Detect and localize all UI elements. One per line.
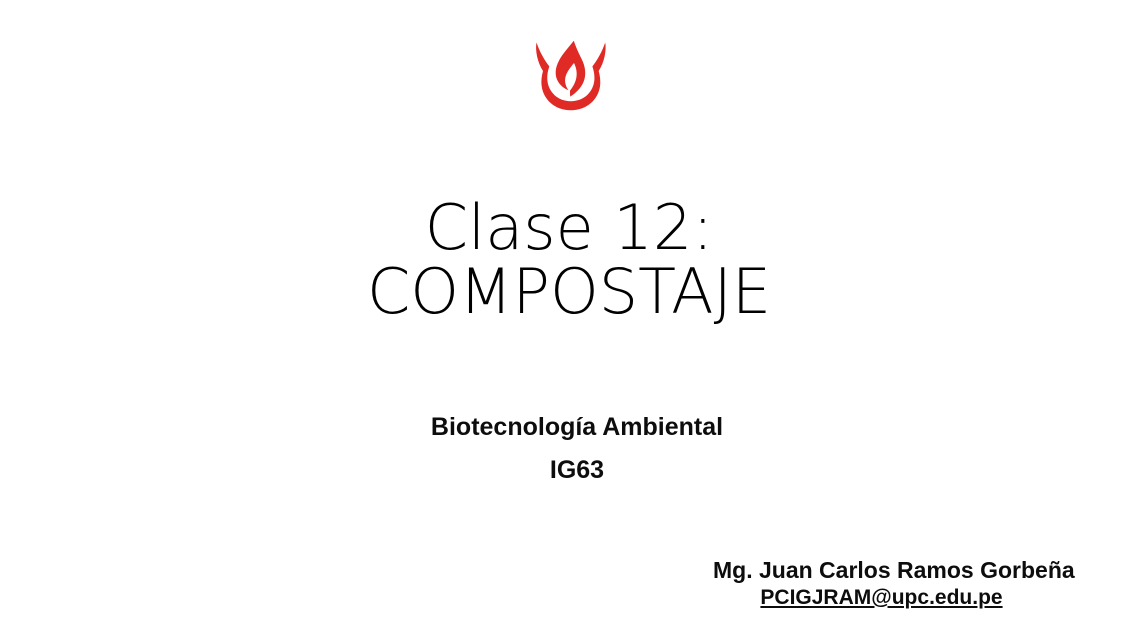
course-code: IG63 bbox=[0, 449, 1138, 492]
presentation-slide: Clase 12: COMPOSTAJE Biotecnología Ambie… bbox=[0, 0, 1138, 640]
title-line-2: COMPOSTAJE bbox=[0, 260, 1138, 324]
title-line-1: Clase 12: bbox=[0, 196, 1138, 260]
slide-title: Clase 12: COMPOSTAJE bbox=[0, 196, 1138, 324]
upc-flame-logo bbox=[532, 40, 610, 120]
course-name: Biotecnología Ambiental bbox=[0, 406, 1138, 449]
author-email-link[interactable]: PCIGJRAM@upc.edu.pe bbox=[713, 585, 1050, 611]
slide-subtitle: Biotecnología Ambiental IG63 bbox=[0, 406, 1138, 492]
logo-container bbox=[0, 40, 1138, 120]
author-name: Mg. Juan Carlos Ramos Gorbeña bbox=[713, 556, 1050, 585]
author-footer: Mg. Juan Carlos Ramos Gorbeña PCIGJRAM@u… bbox=[713, 556, 1050, 611]
